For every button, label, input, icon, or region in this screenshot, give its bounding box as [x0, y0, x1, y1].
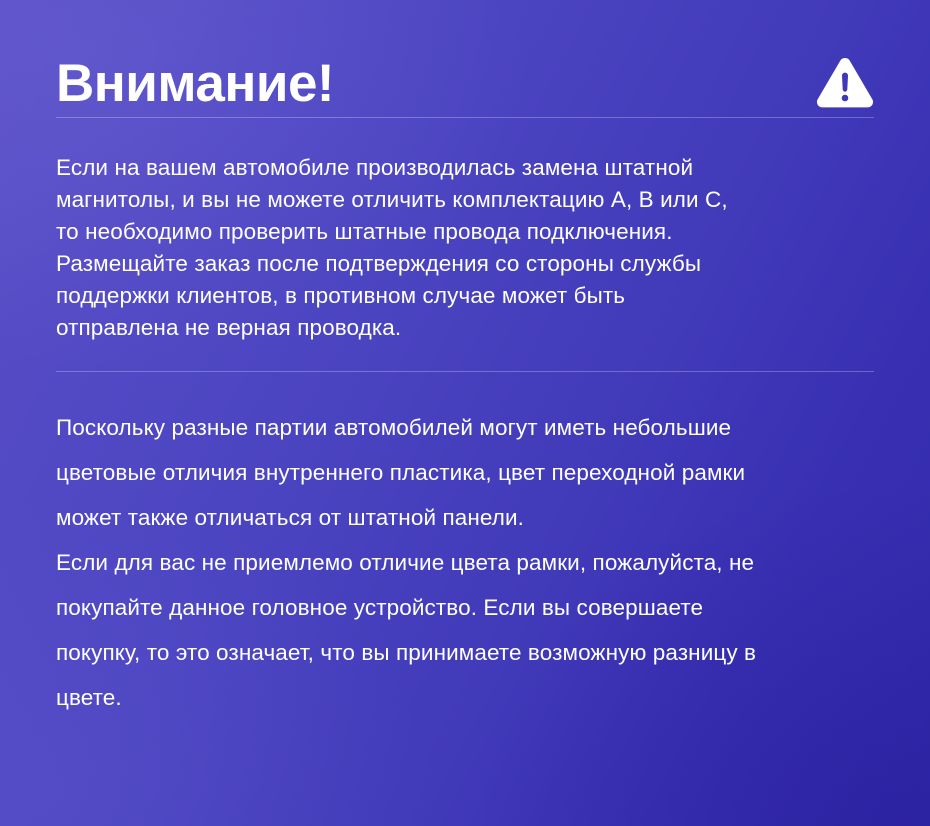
text-line: Если на вашем автомобиле производилась з… [56, 152, 874, 184]
text-line: покупку, то это означает, что вы принима… [56, 630, 874, 675]
text-line: цвете. [56, 675, 874, 720]
text-line: магнитолы, и вы не можете отличить компл… [56, 184, 874, 216]
text-line: Если для вас не приемлемо отличие цвета … [56, 540, 874, 585]
section-one: Если на вашем автомобиле производилась з… [56, 118, 874, 344]
text-line: Поскольку разные партии автомобилей могу… [56, 405, 874, 450]
section-two-text: Поскольку разные партии автомобилей могу… [56, 372, 874, 720]
section-two: Поскольку разные партии автомобилей могу… [56, 372, 874, 720]
notice-content: Внимание! Если на вашем автомобиле произ… [0, 0, 930, 720]
text-line: то необходимо проверить штатные провода … [56, 216, 874, 248]
warning-notice-card: Внимание! Если на вашем автомобиле произ… [0, 0, 930, 826]
section-one-text: Если на вашем автомобиле производилась з… [56, 118, 874, 344]
text-line: Размещайте заказ после подтверждения со … [56, 248, 874, 280]
text-line: поддержки клиентов, в противном случае м… [56, 280, 874, 312]
warning-triangle-icon [816, 58, 874, 112]
text-line: может также отличаться от штатной панели… [56, 495, 874, 540]
page-title: Внимание! [56, 54, 334, 114]
text-line: покупайте данное головное устройство. Ес… [56, 585, 874, 630]
notice-header: Внимание! [56, 0, 874, 92]
text-line: отправлена не верная проводка. [56, 312, 874, 344]
text-line: цветовые отличия внутреннего пластика, ц… [56, 450, 874, 495]
